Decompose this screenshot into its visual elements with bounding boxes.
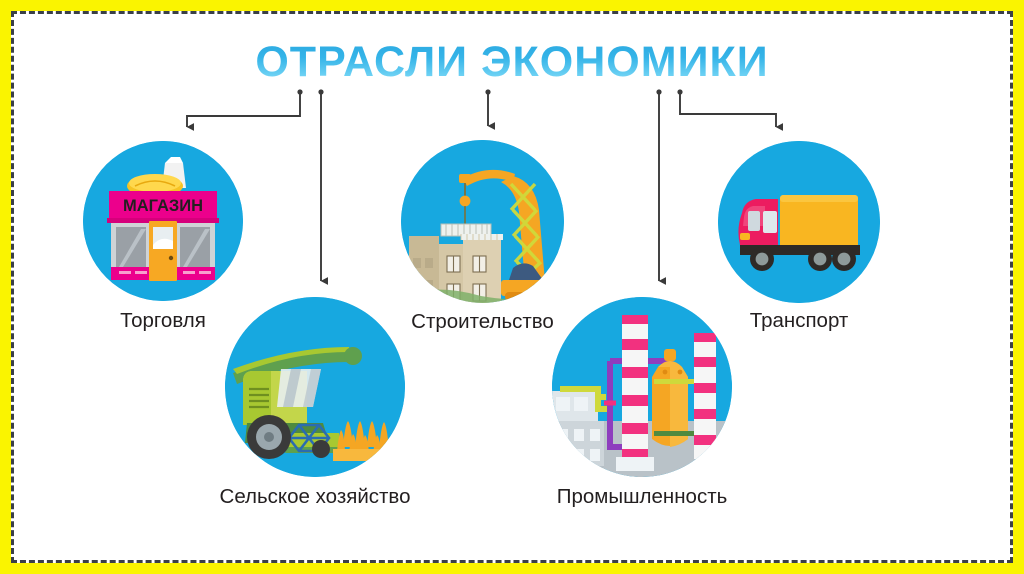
node-label-industry: Промышленность bbox=[557, 485, 728, 509]
node-construction[interactable]: Строительство bbox=[401, 140, 564, 303]
node-label-trade: Торговля bbox=[120, 309, 206, 333]
node-agriculture[interactable]: Сельское хозяйство bbox=[225, 297, 405, 477]
combine-harvester-icon bbox=[225, 297, 405, 477]
node-label-construction: Строительство bbox=[411, 310, 554, 334]
crane-building-icon bbox=[401, 140, 564, 303]
arrow-to-construction bbox=[485, 89, 490, 126]
arrow-to-trade bbox=[187, 89, 303, 127]
harvester-wheel bbox=[247, 415, 291, 459]
factory-icon bbox=[552, 297, 732, 477]
bubble-industry bbox=[552, 297, 732, 477]
arrow-to-transport bbox=[677, 89, 776, 127]
node-label-transport: Транспорт bbox=[750, 309, 849, 333]
diagram-canvas: ОТРАСЛИ ЭКОНОМИКИ bbox=[0, 0, 1024, 574]
bubble-agriculture bbox=[225, 297, 405, 477]
page-title: ОТРАСЛИ ЭКОНОМИКИ bbox=[0, 38, 1024, 87]
truck-icon bbox=[718, 141, 880, 303]
bubble-transport bbox=[718, 141, 880, 303]
arrow-to-agriculture bbox=[318, 89, 323, 281]
shop-sign-text: МАГАЗИН bbox=[123, 197, 203, 215]
shop-icon: МАГАЗИН bbox=[83, 141, 243, 301]
slide-root: ОТРАСЛИ ЭКОНОМИКИ bbox=[0, 0, 1024, 574]
arrow-to-industry bbox=[656, 89, 661, 281]
bubble-construction bbox=[401, 140, 564, 303]
smokestack-right bbox=[694, 333, 716, 459]
node-transport[interactable]: Транспорт bbox=[718, 141, 880, 303]
node-label-agriculture: Сельское хозяйство bbox=[220, 485, 411, 509]
bubble-trade: МАГАЗИН bbox=[83, 141, 243, 301]
node-industry[interactable]: Промышленность bbox=[552, 297, 732, 477]
node-trade[interactable]: МАГАЗИН bbox=[83, 141, 243, 301]
